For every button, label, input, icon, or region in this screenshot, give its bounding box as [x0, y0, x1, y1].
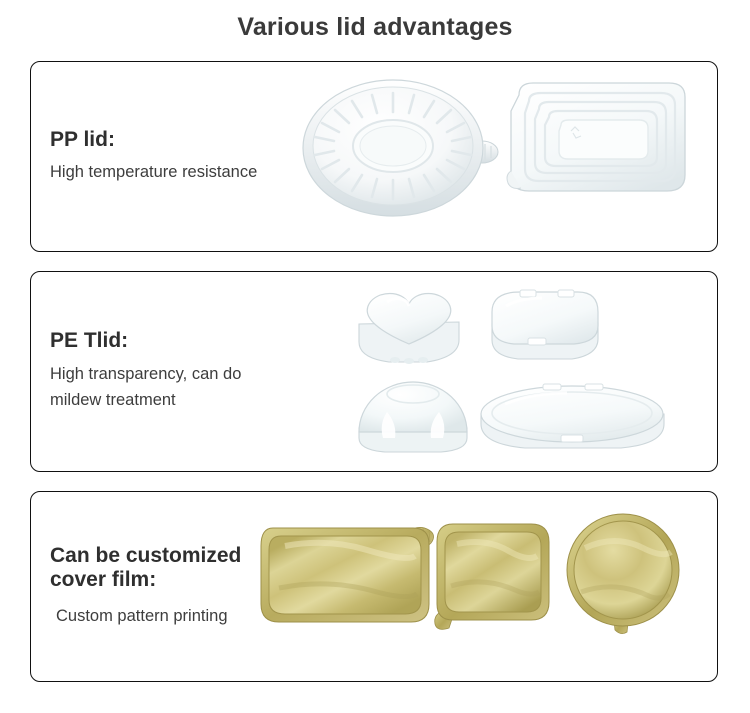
- panel-pp-subtitle: High temperature resistance: [50, 159, 301, 185]
- panel-pp-heading: PP lid:: [50, 128, 301, 152]
- panel-pp-lid: PP lid: High temperature resistance: [30, 61, 718, 252]
- panel-cover-film: Can be customized cover film: Custom pat…: [30, 491, 718, 682]
- gold-rectangular-cover-film-image: [257, 516, 447, 641]
- pe-dome-lid-image: [353, 376, 473, 461]
- panel-pe-lid: PE Tlid: High transparency, can do milde…: [30, 271, 718, 472]
- panel-pe-subtitle: High transparency, can do mildew treatme…: [50, 361, 301, 414]
- pp-round-lid-image: [301, 74, 506, 227]
- pp-rectangular-lid-image: [499, 71, 699, 226]
- gold-round-cover-film-image: [557, 508, 697, 648]
- panel-pe-heading: PE Tlid:: [50, 329, 301, 353]
- panel-pe-media: [301, 272, 717, 471]
- panel-pp-text-block: PP lid: High temperature resistance: [31, 128, 301, 186]
- pp-rectangular-lid-inner-panel: [559, 120, 648, 159]
- pe-heart-lid-notches: [390, 357, 428, 364]
- pe-oval-lid-image: [475, 380, 670, 460]
- pe-heart-lid-image: [349, 286, 474, 376]
- panel-pp-media: [301, 62, 717, 251]
- page-title: Various lid advantages: [0, 0, 750, 44]
- panel-film-media: [301, 492, 717, 681]
- gold-square-cover-film-image: [423, 516, 573, 646]
- pe-square-lid-image: [484, 282, 609, 377]
- panel-pe-text-block: PE Tlid: High transparency, can do milde…: [31, 329, 301, 413]
